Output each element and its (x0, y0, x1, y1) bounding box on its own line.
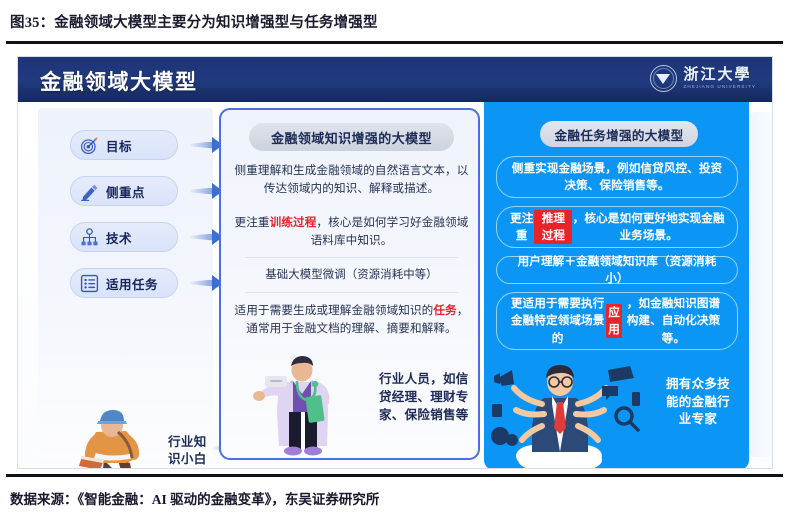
divider (245, 257, 458, 258)
middle-row-2: 更注重训练过程，核心是如何学习好金融领域语料库中知识。 (233, 214, 470, 249)
pill-focus[interactable]: 侧重点 (70, 176, 178, 206)
novice-persona: 行业知识小白 (60, 408, 232, 469)
checklist-icon (80, 274, 99, 293)
infographic-header: 金融领域大模型 浙江大學 ZHEJIANG UNIVERSITY (18, 57, 772, 102)
network-icon (80, 228, 99, 247)
middle-row-4: 适用于需要生成或理解金融领域知识的任务，通常用于金融文档的理解、摘要和解释。 (233, 302, 470, 337)
text-run: 更注重 (235, 216, 270, 229)
caption-divider-top (6, 41, 783, 44)
bird-emblem-icon (656, 74, 670, 84)
logo-wordmark: 浙江大學 ZHEJIANG UNIVERSITY (684, 68, 756, 90)
figure-caption: 图35：金融领域大模型主要分为知识增强型与任务增强型 (10, 11, 378, 32)
text-run: 侧重理解和生成金融领域的自然语言文本，以传达领域内的知识、解释或描述。 (235, 164, 469, 195)
pill-label: 目标 (106, 136, 132, 155)
highlighted-text-run: 训练过程 (270, 216, 317, 229)
right-bubble-2: 更注重推理过程，核心是如何更好地实现金融业务场景。 (496, 206, 738, 248)
novice-persona-label: 行业知识小白 (168, 434, 216, 468)
text-run: 适用于需要生成或理解金融领域知识的 (235, 304, 434, 317)
pill-applicable-tasks[interactable]: 适用任务 (70, 268, 178, 298)
target-icon (80, 136, 99, 155)
right-card-chip: 金融任务增强的大模型 (540, 121, 698, 147)
expert-illustration-icon (484, 352, 664, 469)
expert-persona-label: 拥有众多技能的金融行业专家 (660, 376, 736, 429)
pencil-icon (80, 182, 99, 201)
pill-target[interactable]: 目标 (70, 130, 178, 160)
expert-persona: 拥有众多技能的金融行业专家 (484, 352, 749, 469)
infographic-body: 目标 侧重点 (18, 102, 772, 469)
right-bubble-3: 用户理解＋金融领域知识库（资源消耗小） (496, 256, 738, 284)
middle-column-card: 金融领域知识增强的大模型 侧重理解和生成金融领域的自然语言文本，以传达领域内的知… (219, 108, 480, 460)
university-seal-icon (650, 65, 677, 92)
text-run: ，核心是如何更好地实现金融业务场景。 (572, 210, 725, 245)
logo-name-cn: 浙江大學 (684, 68, 756, 83)
text-run: 侧重实现金融场景，例如信贷风控、投资决策、保险销售等。 (509, 160, 725, 195)
text-run: ，如金融知识图谱构建、自动化决策等。 (622, 295, 725, 347)
source-divider (6, 474, 783, 477)
highlighted-text-run: 推理过程 (534, 210, 572, 245)
novice-illustration-icon (60, 408, 170, 469)
professional-persona-label: 行业人员，如信贷经理、理财专家、保险销售等 (379, 370, 471, 424)
right-bubble-4: 更适用于需要执行金融特定领域场景的应用，如金融知识图谱构建、自动化决策等。 (496, 292, 738, 350)
zhejiang-university-logo: 浙江大學 ZHEJIANG UNIVERSITY (650, 65, 756, 92)
text-run: 基础大模型微调（资源消耗中等） (265, 269, 437, 281)
middle-row-3: 基础大模型微调（资源消耗中等） (233, 267, 470, 284)
infographic-title: 金融领域大模型 (40, 66, 198, 96)
left-column-panel: 目标 侧重点 (38, 108, 213, 460)
pill-technology[interactable]: 技术 (70, 222, 178, 252)
professional-illustration-icon (227, 354, 377, 458)
text-run: 更注重 (509, 210, 534, 245)
right-bubble-1: 侧重实现金融场景，例如信贷风控、投资决策、保险销售等。 (496, 156, 738, 198)
text-run: 用户理解＋金融领域知识库（资源消耗小） (509, 253, 725, 288)
professional-persona: 行业人员，如信贷经理、理财专家、保险销售等 (227, 354, 475, 458)
highlighted-text-run: 应用 (606, 304, 622, 339)
divider (245, 292, 458, 293)
logo-name-en: ZHEJIANG UNIVERSITY (684, 85, 756, 90)
middle-card-chip: 金融领域知识增强的大模型 (249, 123, 454, 151)
highlighted-text-run: 任务 (433, 304, 456, 317)
right-edge-glow (749, 112, 773, 457)
right-column-panel: 金融任务增强的大模型 侧重实现金融场景，例如信贷风控、投资决策、保险销售等。 更… (484, 102, 749, 469)
pill-label: 技术 (106, 228, 132, 247)
middle-row-1: 侧重理解和生成金融领域的自然语言文本，以传达领域内的知识、解释或描述。 (233, 162, 470, 197)
text-run: 更适用于需要执行金融特定领域场景的 (509, 295, 606, 347)
pill-label: 侧重点 (106, 182, 145, 201)
infographic-frame: 金融领域大模型 浙江大學 ZHEJIANG UNIVERSITY (17, 56, 773, 469)
text-run: ，核心是如何学习好金融领域语料库中知识。 (311, 216, 469, 247)
pill-label: 适用任务 (106, 274, 158, 293)
source-note: 数据来源：《智能金融：AI 驱动的金融变革》，东吴证券研究所 (10, 488, 379, 508)
